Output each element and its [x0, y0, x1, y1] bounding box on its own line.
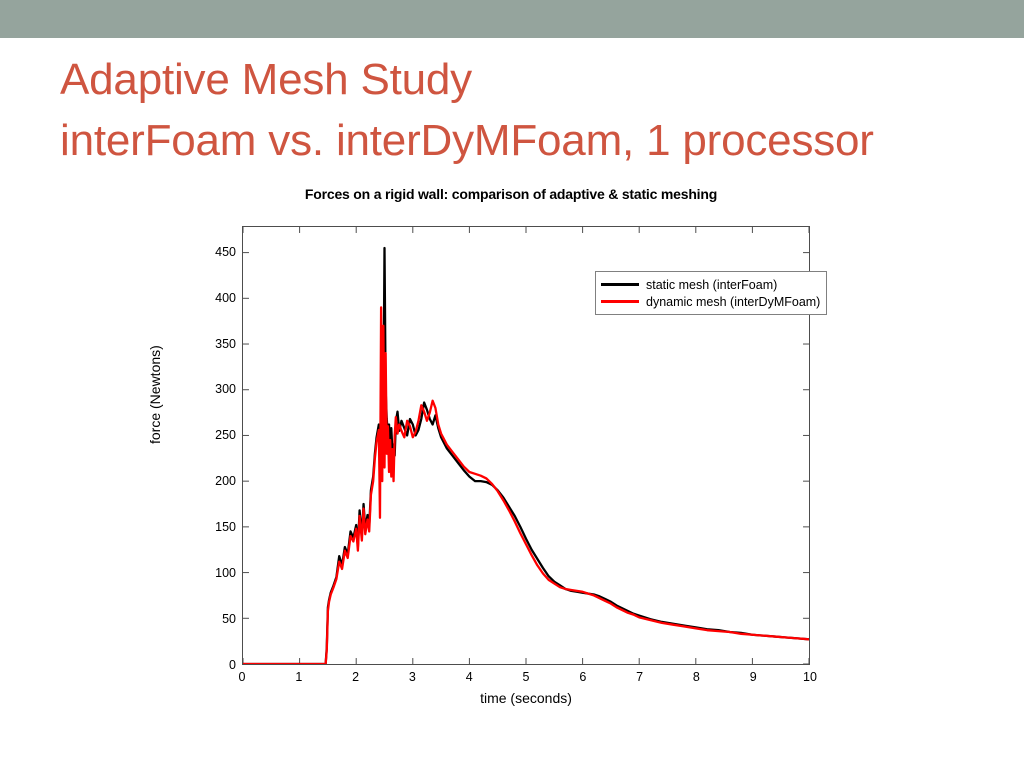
chart-x-tick-label: 9: [738, 670, 768, 684]
chart-legend-item: static mesh (interFoam): [601, 276, 820, 293]
chart-y-tick-label: 200: [190, 474, 236, 488]
chart-y-tick-label: 100: [190, 566, 236, 580]
chart-x-tick-label: 1: [284, 670, 314, 684]
chart-y-tick-label: 150: [190, 520, 236, 534]
chart-y-axis-label: force (Newtons): [147, 345, 163, 444]
chart-x-tick-label: 0: [227, 670, 257, 684]
chart-x-tick-label: 5: [511, 670, 541, 684]
chart-x-tick-label: 10: [795, 670, 825, 684]
chart-x-tick-label: 7: [625, 670, 655, 684]
chart-legend-label: static mesh (interFoam): [646, 278, 777, 292]
chart-legend-item: dynamic mesh (interDyMFoam): [601, 293, 820, 310]
chart-plot-area: static mesh (interFoam)dynamic mesh (int…: [242, 226, 810, 665]
chart-title: Forces on a rigid wall: comparison of ad…: [186, 186, 836, 202]
chart-x-tick-label: 3: [397, 670, 427, 684]
chart-x-tick-label: 4: [454, 670, 484, 684]
chart-x-tick-label: 6: [568, 670, 598, 684]
chart-legend: static mesh (interFoam)dynamic mesh (int…: [595, 271, 827, 315]
chart-legend-swatch-icon: [601, 283, 639, 286]
chart-y-tick-label: 300: [190, 382, 236, 396]
chart-y-tick-label: 350: [190, 337, 236, 351]
chart-legend-label: dynamic mesh (interDyMFoam): [646, 295, 820, 309]
chart-y-tick-label: 400: [190, 291, 236, 305]
chart-y-tick-label: 50: [190, 612, 236, 626]
chart-y-tick-label: 250: [190, 428, 236, 442]
slide-top-banner: [0, 0, 1024, 38]
slide-canvas: Adaptive Mesh Study interFoam vs. interD…: [0, 0, 1024, 768]
chart-figure: Forces on a rigid wall: comparison of ad…: [186, 186, 836, 716]
chart-y-tick-label: 450: [190, 245, 236, 259]
chart-series-line-dynamic: [243, 307, 809, 664]
chart-x-tick-label: 2: [341, 670, 371, 684]
chart-legend-swatch-icon: [601, 300, 639, 303]
chart-x-tick-label: 8: [681, 670, 711, 684]
chart-x-axis-label: time (seconds): [242, 690, 810, 706]
page-title: Adaptive Mesh Study interFoam vs. interD…: [60, 50, 1000, 171]
